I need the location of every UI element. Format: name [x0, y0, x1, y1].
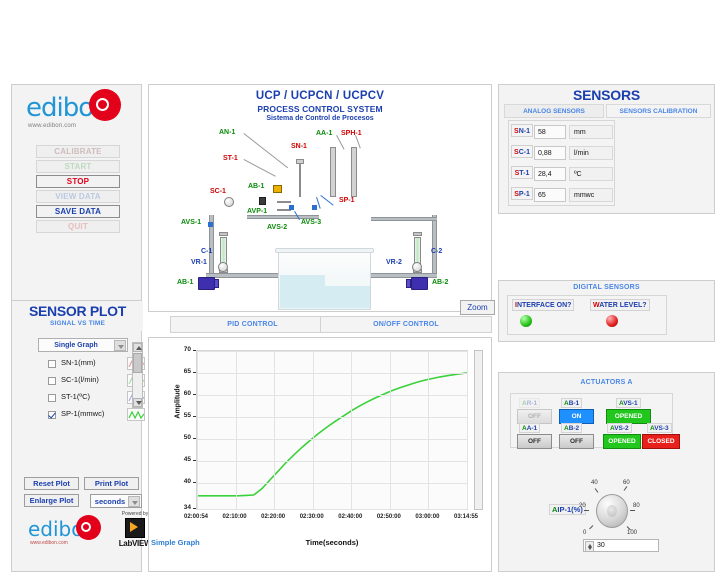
actuator-tag-ar1: AR-1: [519, 398, 540, 408]
diagram-label-ab2: AB-2: [432, 279, 448, 286]
chart-gridline-v: [274, 351, 275, 509]
aip1-value-field[interactable]: 30: [583, 539, 659, 552]
graph-mode-value: Single Graph: [39, 339, 113, 351]
edibon-logo-footer-ring: [81, 522, 91, 532]
diagram-label-avs2: AVS-2: [267, 224, 287, 231]
diagram-subtitle-es: Sistema de Control de Procesos: [149, 115, 491, 122]
actuator-tag-aa1: AA-1: [519, 423, 540, 433]
chart-x-tick-label: 02:00:54: [184, 514, 208, 520]
sensor-unit-st1: ºC: [569, 167, 613, 181]
digital-sensors-title: DIGITAL SENSORS: [499, 284, 714, 291]
diagram-label-sc1: SC-1: [210, 188, 226, 195]
actuator-button-ab1[interactable]: ON: [559, 409, 594, 424]
knob-mark-0: [589, 525, 593, 529]
chart-y-tick-label: 34: [161, 504, 191, 511]
chart-gridline-h: [197, 395, 467, 396]
aip1-knob[interactable]: [596, 494, 628, 528]
actuators-box: AR-1 OFF AB-1 ON AVS-1 OPENED AA-1 OFF A…: [510, 393, 673, 448]
chart-x-tick-label: 02:30:00: [300, 514, 324, 520]
channel-label-st1: ST-1(ºC): [61, 392, 90, 401]
checkbox-st1[interactable]: [48, 394, 56, 402]
chart-x-tick-label: 02:10:00: [223, 514, 247, 520]
checkbox-sc1[interactable]: [48, 377, 56, 385]
pipe-left-horizontal: [206, 273, 278, 278]
sensor-row-st1: ST-1 28,4 ºC: [509, 165, 616, 185]
scroll-up-icon[interactable]: [133, 343, 142, 352]
chart-y-tick-mark: [193, 460, 196, 461]
actuator-tag-ab1: AB-1: [561, 398, 582, 408]
start-button[interactable]: START: [36, 160, 120, 173]
sensor-value-sn1: 58: [534, 125, 566, 139]
sensor-unit-sp1: mmwc: [569, 188, 613, 202]
chart-y-tick-label: 55: [161, 412, 191, 419]
vr2-valve: [412, 262, 422, 272]
reset-plot-button[interactable]: Reset Plot: [24, 477, 79, 490]
chart-y-tick-mark: [193, 508, 196, 509]
diagram-label-c2: C-2: [431, 248, 442, 255]
channel-label-sc1: SC-1(l/min): [61, 375, 99, 384]
actuator-button-avs2[interactable]: OPENED: [603, 434, 641, 449]
diagram-label-c1: C-1: [201, 248, 212, 255]
sensor-tag-sc1: SC-1: [511, 145, 533, 158]
edibon-logo: edibon www.edibon.com: [12, 85, 141, 139]
ab1-pump-outlet: [214, 279, 219, 288]
spinner-icon[interactable]: [585, 541, 594, 552]
chart-gridline-h: [197, 461, 467, 462]
sensor-plot-panel: SENSOR PLOT SIGNAL VS TIME Single Graph …: [11, 300, 142, 572]
chart-y-tick-label: 70: [161, 346, 191, 353]
chart-gridline-v: [197, 351, 198, 509]
chart-y-tick-label: 40: [161, 478, 191, 485]
pipe-right-vertical: [432, 215, 437, 273]
aip1-knob-group: AIP-1(%) 0 20 40 60 80 100 30: [499, 468, 716, 568]
chart-y-tick-label: 45: [161, 456, 191, 463]
chart-y-tick-mark: [193, 372, 196, 373]
sensors-panel: SENSORS ANALOG SENSORS SENSORS CALIBRATI…: [498, 84, 715, 214]
leader-line-st1: [244, 159, 276, 177]
chart-gridline-h: [197, 509, 467, 510]
diagram-label-ab1: AB-1: [177, 279, 193, 286]
chart-series-svg: [197, 351, 467, 509]
pipe-return-horizontal: [371, 217, 437, 221]
tank-water-left: [280, 275, 325, 308]
sensor-row-sc1: SC-1 0,88 l/min: [509, 144, 616, 164]
time-unit-value: seconds: [91, 495, 129, 507]
edibon-logo-footer: edibon www.edibon.com: [28, 515, 108, 549]
diagram-label-sp1: SP-1: [339, 197, 355, 204]
chart-plot-area[interactable]: [196, 350, 468, 510]
actuator-button-avs1[interactable]: OPENED: [606, 409, 651, 424]
diagram-label-avp1: AVP-1: [247, 208, 267, 215]
chart-y-tick-mark: [193, 416, 196, 417]
chart-y-tick-mark: [193, 394, 196, 395]
diagram-label-ab1-device: AB-1: [248, 183, 264, 190]
save-data-button[interactable]: SAVE DATA: [36, 205, 120, 218]
sensor-value-sp1: 65: [534, 188, 566, 202]
chart-y-tick-label: 65: [161, 368, 191, 375]
channel-row-st1[interactable]: ST-1(ºC): [48, 392, 144, 408]
diagram-label-avs1: AVS-1: [181, 219, 201, 226]
chart-gridline-v: [467, 351, 468, 509]
diagram-label-vr1: VR-1: [191, 259, 207, 266]
aa1-probe: [330, 147, 336, 197]
actuator-tag-avs1: AVS-1: [616, 398, 641, 408]
chart-gridline-h: [197, 417, 467, 418]
tab-analog-sensors[interactable]: ANALOG SENSORS: [504, 104, 604, 118]
main-command-buttons: CALIBRATE START STOP VIEW DATA SAVE DATA…: [36, 145, 120, 235]
diagram-label-aa1: AA-1: [316, 130, 332, 137]
knob-tick-80: 80: [633, 503, 640, 509]
checkbox-sp1[interactable]: [48, 411, 56, 419]
sensor-unit-sc1: l/min: [569, 146, 613, 160]
diagram-subtitle: PROCESS CONTROL SYSTEM: [149, 104, 491, 114]
knob-mark-60: [624, 486, 628, 491]
chart-scrollbar[interactable]: [474, 350, 483, 510]
chart-x-tick-label: 03:00:00: [415, 514, 439, 520]
digital-sensors-panel: DIGITAL SENSORS INTERFACE ON? WATER LEVE…: [498, 280, 715, 342]
view-data-button[interactable]: VIEW DATA: [36, 190, 120, 203]
chart-x-tick-label: 03:14:55: [454, 514, 478, 520]
scrollbar-thumb[interactable]: [133, 353, 142, 373]
chart-y-tick-mark: [193, 482, 196, 483]
sensor-value-st1: 28,4: [534, 167, 566, 181]
c1-rotameter-cap-top: [219, 232, 228, 236]
chart-y-tick-label: 60: [161, 390, 191, 397]
enlarge-plot-button[interactable]: Enlarge Plot: [24, 494, 79, 507]
diagram-label-avs3: AVS-3: [301, 219, 321, 226]
actuators-title: ACTUATORS A: [499, 379, 714, 386]
sn1-probe: [299, 163, 301, 197]
tab-sensors-calibration[interactable]: SENSORS CALIBRATION: [606, 104, 711, 118]
chart-x-tick-label: 02:20:00: [261, 514, 285, 520]
aip1-value: 30: [597, 540, 605, 551]
chart-gridline-h: [197, 439, 467, 440]
chart-gridline-v: [390, 351, 391, 509]
chart-gridline-h: [197, 351, 467, 352]
avs2-valve: [289, 205, 294, 210]
leader-line-aa1: [336, 135, 344, 150]
channel-label-sp1: SP-1(mmwc): [61, 409, 104, 418]
chart-y-tick-mark: [193, 350, 196, 351]
chart-y-tick-label: 50: [161, 434, 191, 441]
ab1-device: [273, 185, 282, 193]
tank-water-right: [325, 286, 370, 308]
stop-button[interactable]: STOP: [36, 175, 120, 188]
actuator-tag-ab2: AB-2: [561, 423, 582, 433]
sensor-value-sc1: 0,88: [534, 146, 566, 160]
knob-mark-20: [584, 510, 589, 511]
chart-x-tick-label: 02:50:00: [377, 514, 401, 520]
chart-gridline-v: [428, 351, 429, 509]
edibon-footer-url: www.edibon.com: [30, 540, 68, 546]
labview-icon: [125, 518, 145, 538]
sensor-plot-title: SENSOR PLOT: [12, 301, 143, 319]
sensor-tag-st1: ST-1: [511, 166, 533, 179]
actuator-button-aa1[interactable]: OFF: [517, 434, 552, 449]
actuator-tag-avs3: AVS-3: [647, 423, 672, 433]
knob-tick-100: 100: [627, 530, 637, 536]
water-level-led: [606, 315, 618, 327]
diagram-label-an1: AN-1: [219, 129, 235, 136]
edibon-url: www.edibon.com: [28, 123, 76, 129]
knob-tick-40: 40: [591, 480, 598, 486]
ab2-pump-inlet: [406, 279, 411, 288]
print-plot-button[interactable]: Print Plot: [84, 477, 139, 490]
ab2-pump: [411, 277, 428, 290]
diagram-label-sn1: SN-1: [291, 143, 307, 150]
vr1-valve: [218, 262, 228, 272]
sn1-probe-head: [296, 159, 304, 164]
sensor-plot-subtitle: SIGNAL VS TIME: [12, 319, 143, 327]
chart-gridline-h: [197, 483, 467, 484]
sensor-unit-sn1: mm: [569, 125, 613, 139]
chart-series-line: [197, 373, 467, 496]
graph-mode-select[interactable]: Single Graph: [38, 338, 128, 352]
channel-row-sp1[interactable]: SP-1(mmwc): [48, 409, 144, 425]
avp1-valve: [259, 197, 266, 205]
chart-gridline-h: [197, 373, 467, 374]
chart-gridline-v: [236, 351, 237, 509]
diagram-title: UCP / UCPCN / UCPCV: [149, 90, 491, 102]
scroll-down-icon[interactable]: [133, 398, 142, 407]
diagram-zoom-button[interactable]: Zoom: [460, 300, 495, 315]
knob-dimple: [607, 505, 617, 517]
chart-x-ticks: 02:00:5402:10:0002:20:0002:30:0002:40:00…: [149, 514, 493, 526]
diagram-label-st1: ST-1: [223, 155, 238, 162]
process-diagram-panel: UCP / UCPCN / UCPCV PROCESS CONTROL SYST…: [148, 84, 492, 312]
sensors-title: SENSORS: [499, 87, 714, 103]
st1-probe: [277, 201, 291, 203]
chart-y-tick-mark: [193, 438, 196, 439]
control-tabs: PID CONTROL ON/OFF CONTROL: [148, 316, 492, 333]
quit-button[interactable]: QUIT: [36, 220, 120, 233]
analog-sensors-table: SN-1 58 mm SC-1 0,88 l/min ST-1 28,4 ºC …: [508, 120, 615, 206]
checkbox-sn1[interactable]: [48, 360, 56, 368]
avs3-valve: [312, 205, 317, 210]
sensor-tag-sp1: SP-1: [511, 187, 533, 200]
diagram-label-vr2: VR-2: [386, 259, 402, 266]
chart-x-axis-label: Time(seconds): [196, 538, 468, 547]
knob-tick-0: 0: [583, 530, 586, 536]
chart-gridline-v: [351, 351, 352, 509]
knob-tick-20: 20: [579, 503, 586, 509]
channel-list-scrollbar[interactable]: [132, 342, 143, 408]
avs1-valve: [208, 222, 213, 227]
digital-label-interface-on: INTERFACE ON?: [512, 299, 574, 311]
channel-row-sc1[interactable]: SC-1(l/min): [48, 375, 144, 391]
actuator-button-ab2[interactable]: OFF: [559, 434, 594, 449]
knob-mark-80: [630, 510, 635, 511]
sensor-tag-sn1: SN-1: [511, 124, 533, 137]
channel-row-sn1[interactable]: SN-1(mm): [48, 358, 144, 374]
sph1-probe: [351, 147, 357, 197]
chevron-down-icon[interactable]: [128, 496, 140, 507]
actuator-button-avs3[interactable]: CLOSED: [642, 434, 680, 449]
actuator-tag-avs2: AVS-2: [607, 423, 632, 433]
actuators-panel: ACTUATORS A AR-1 OFF AB-1 ON AVS-1 OPENE…: [498, 372, 715, 572]
control-sidebar: edibon www.edibon.com CALIBRATE START ST…: [11, 84, 142, 312]
digital-label-water-level: WATER LEVEL?: [590, 299, 650, 311]
sensor-row-sn1: SN-1 58 mm: [509, 123, 616, 143]
c2-rotameter-cap-top: [413, 232, 422, 236]
waveform-icon-sp1: [127, 408, 145, 421]
tab-onoff-control[interactable]: ON/OFF CONTROL: [320, 316, 492, 333]
knob-mark-40: [595, 488, 599, 493]
ab1-pump: [198, 277, 215, 290]
chart-gridline-v: [313, 351, 314, 509]
calibrate-button[interactable]: CALIBRATE: [36, 145, 120, 158]
process-tank: [278, 252, 371, 310]
signal-chart-panel: Amplitude Time(seconds) Simple Graph 344…: [148, 337, 492, 572]
time-unit-select[interactable]: seconds: [90, 494, 142, 508]
interface-on-led: [520, 315, 532, 327]
sensor-row-sp1: SP-1 65 mmwc: [509, 186, 616, 206]
chevron-down-icon[interactable]: [114, 340, 126, 351]
application-window: edibon www.edibon.com CALIBRATE START ST…: [0, 0, 723, 584]
channel-label-sn1: SN-1(mm): [61, 358, 96, 367]
chart-legend-label: Simple Graph: [151, 538, 200, 547]
actuator-button-ar1[interactable]: OFF: [517, 409, 552, 424]
sc1-flowmeter: [224, 197, 234, 207]
edibon-logo-ring: [96, 98, 109, 111]
digital-sensors-box: INTERFACE ON? WATER LEVEL?: [507, 295, 667, 335]
tab-pid-control[interactable]: PID CONTROL: [170, 316, 335, 333]
chart-x-tick-label: 02:40:00: [338, 514, 362, 520]
diagram-label-sph1: SPH-1: [341, 130, 362, 137]
